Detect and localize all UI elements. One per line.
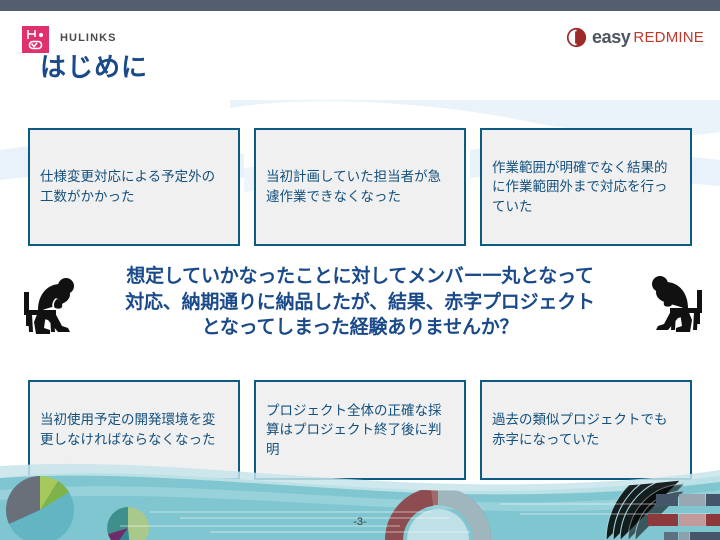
center-message: 想定していかなったことに対してメンバー一丸となって 対応、納期通りに納品したが、… (88, 264, 632, 341)
easy-redmine-power-icon (566, 27, 587, 48)
easy-redmine-redmine-text: REDMINE (633, 29, 704, 46)
issue-box-4-text: 当初使用予定の開発環境を変更しなければならなくなった (40, 410, 228, 449)
issue-box-2: 当初計画していた担当者が急遽作業できなくなった (254, 128, 466, 246)
issue-box-3: 作業範囲が明確でなく結果的に作業範囲外まで対応を行っていた (480, 128, 692, 246)
center-message-line-2: 対応、納期通りに納品したが、結果、赤字プロジェクト (88, 290, 632, 316)
center-message-line-3: となってしまった経験ありませんか？ (88, 315, 632, 341)
issue-box-1-text: 仕様変更対応による予定外の工数がかかった (40, 167, 228, 206)
page-title: はじめに (40, 47, 148, 84)
issue-box-2-text: 当初計画していた担当者が急遽作業できなくなった (266, 167, 454, 206)
issue-box-3-text: 作業範囲が明確でなく結果的に作業範囲外まで対応を行っていた (492, 158, 680, 217)
top-accent-bar (0, 0, 720, 11)
easy-redmine-logo: easy REDMINE (566, 25, 704, 49)
easy-redmine-easy-text: easy (592, 27, 630, 48)
issue-box-5-text: プロジェクト全体の正確な採算はプロジェクト終了後に判明 (266, 401, 454, 460)
slide-canvas: HULINKS easy REDMINE はじめに 仕様変更対応による予定外の工… (0, 0, 720, 540)
hulinks-wordmark: HULINKS (60, 32, 117, 44)
dejected-person-on-chair-icon-right (634, 266, 710, 338)
slide-header: HULINKS easy REDMINE (0, 11, 720, 44)
issue-box-6-text: 過去の類似プロジェクトでも赤字になっていた (492, 410, 680, 449)
center-message-line-1: 想定していかなったことに対してメンバー一丸となって (88, 264, 632, 290)
dejected-person-on-chair-icon-left (16, 268, 92, 338)
issue-box-1: 仕様変更対応による予定外の工数がかかった (28, 128, 240, 246)
page-number: -3- (0, 516, 720, 528)
